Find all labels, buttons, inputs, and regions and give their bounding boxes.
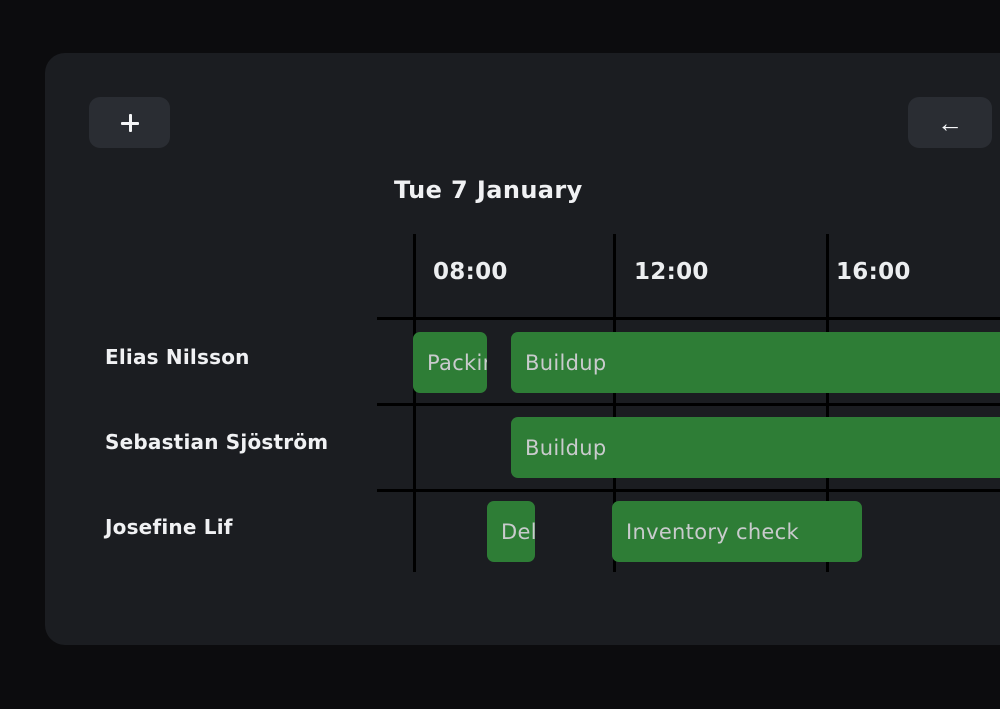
row-gridline xyxy=(377,317,1000,320)
row-gridline xyxy=(377,489,1000,492)
app-root: ← Tue 7 January 08:0012:0016:00Elias Nil… xyxy=(0,0,1000,709)
gantt-grid: 08:0012:0016:00Elias NilssonPackingBuild… xyxy=(45,53,1000,645)
schedule-event-bar[interactable]: Packing xyxy=(413,332,487,393)
schedule-event-label: Buildup xyxy=(511,436,606,460)
resource-row-label: Elias Nilsson xyxy=(105,345,250,369)
schedule-event-bar[interactable]: Buildup xyxy=(511,417,1000,478)
schedule-event-label: Buildup xyxy=(511,351,606,375)
schedule-event-bar[interactable]: Delivery xyxy=(487,501,535,562)
resource-row-label: Josefine Lif xyxy=(105,515,233,539)
schedule-event-bar[interactable]: Inventory check xyxy=(612,501,862,562)
schedule-event-label: Delivery xyxy=(487,520,535,544)
resource-row-label: Sebastian Sjöström xyxy=(105,430,328,454)
schedule-event-label: Packing xyxy=(413,351,487,375)
time-axis-label: 12:00 xyxy=(634,259,709,285)
time-axis-label: 08:00 xyxy=(433,259,508,285)
schedule-event-label: Inventory check xyxy=(612,520,799,544)
row-gridline xyxy=(377,403,1000,406)
schedule-event-bar[interactable]: Buildup xyxy=(511,332,1000,393)
time-axis-label: 16:00 xyxy=(836,259,911,285)
schedule-panel: ← Tue 7 January 08:0012:0016:00Elias Nil… xyxy=(45,53,1000,645)
